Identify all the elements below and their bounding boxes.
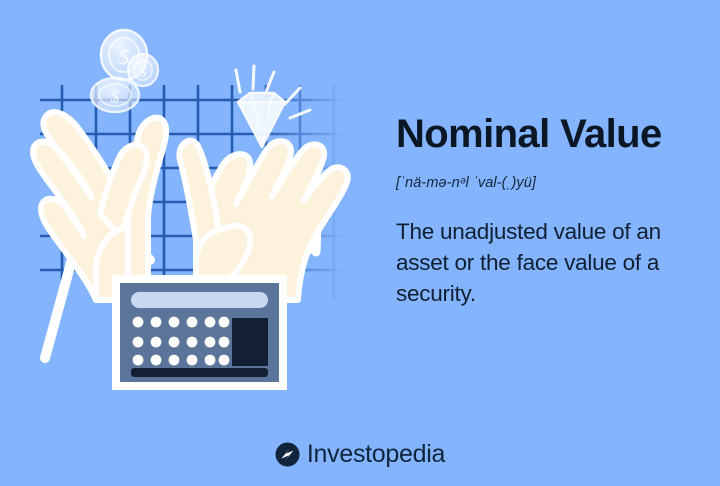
coin: $: [91, 78, 139, 112]
investopedia-swoosh-icon: [275, 442, 300, 467]
term-definition: The unadjusted value of an asset or the …: [396, 216, 708, 309]
definition-block: Nominal Value [ˈnä-mə-nᵊl ˈval-(ˌ)yü] Th…: [396, 112, 708, 309]
infographic-card: $ $ $: [0, 0, 720, 486]
calculator-keypad-dark-panel: [232, 318, 268, 366]
calculator: [112, 275, 287, 390]
term-title: Nominal Value: [396, 112, 708, 156]
coin-symbol: $: [140, 66, 147, 81]
illustration: $ $ $: [0, 0, 380, 420]
brand-footer: Investopedia: [0, 441, 720, 468]
term-pronunciation: [ˈnä-mə-nᵊl ˈval-(ˌ)yü]: [396, 174, 708, 192]
brand-name: Investopedia: [307, 441, 445, 468]
coin-symbol: $: [111, 87, 120, 106]
coin: $: [128, 54, 158, 86]
calculator-bottom-bar: [131, 368, 268, 377]
calculator-display: [131, 292, 268, 308]
